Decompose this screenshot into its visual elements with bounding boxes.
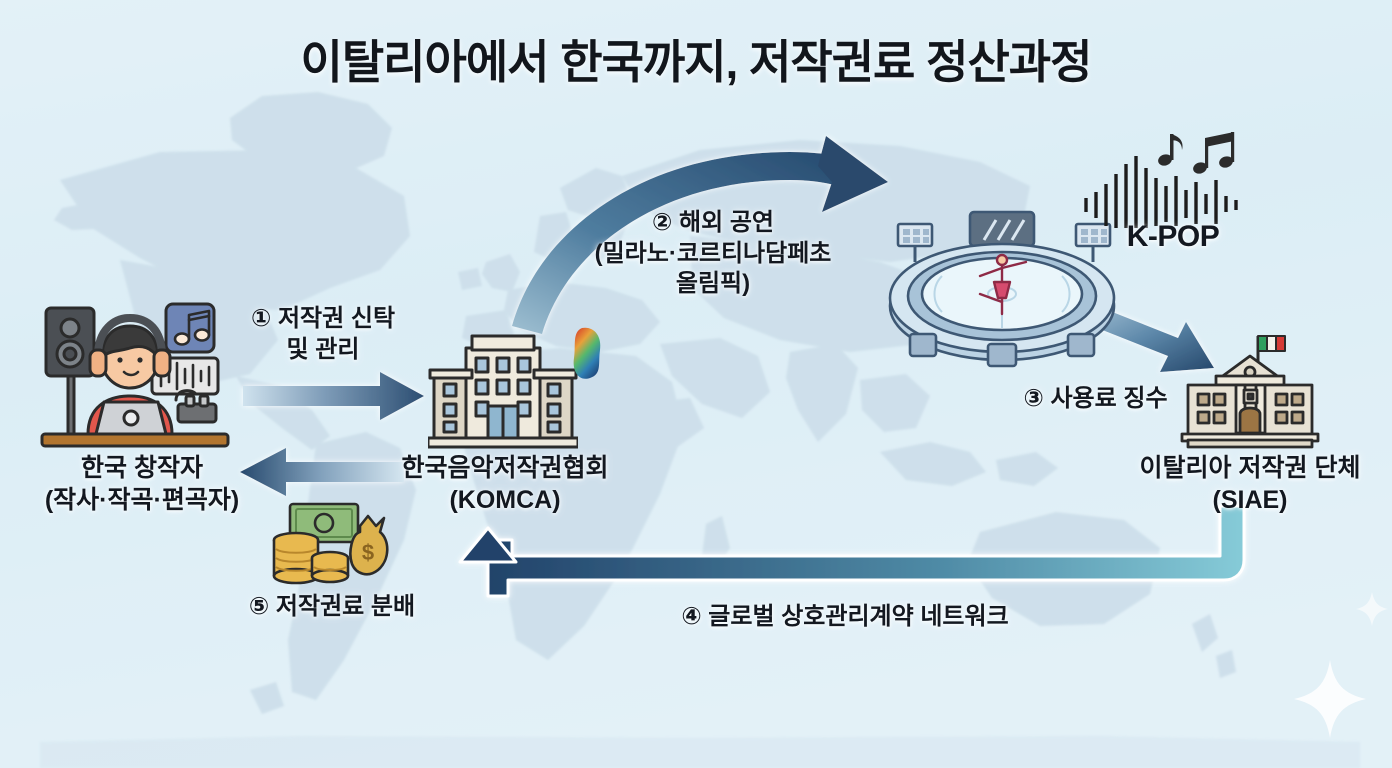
svg-text:$: $	[362, 540, 374, 565]
creator-caption: 한국 창작자 (작사·작곡·편곡자)	[2, 452, 282, 516]
arrow-siae-to-komca	[460, 506, 1244, 596]
step-5-label: ⑤ 저작권료 분배	[212, 592, 452, 623]
music-creator-icon	[34, 296, 242, 454]
kpop-badge: K-POP	[1088, 218, 1258, 256]
arrow-creator-to-komca	[243, 372, 424, 420]
office-building-icon	[428, 330, 578, 450]
kpop-soundwave-icon	[1080, 130, 1260, 230]
step-1-label: ① 저작권 신탁 및 관리	[228, 304, 418, 365]
step-2-label: ② 해외 공연 (밀라노·코르티나담페초 올림픽)	[548, 208, 878, 300]
korea-accent-marker-icon	[566, 324, 612, 382]
infographic-canvas: 이탈리아에서 한국까지, 저작권료 정산과정	[0, 0, 1392, 768]
komca-caption: 한국음악저작권협회 (KOMCA)	[370, 452, 640, 516]
siae-caption: 이탈리아 저작권 단체 (SIAE)	[1110, 452, 1390, 516]
step-4-label: ④ 글로벌 상호관리계약 네트워크	[610, 602, 1080, 633]
step-3-label: ③ 사용료 징수	[988, 384, 1203, 415]
